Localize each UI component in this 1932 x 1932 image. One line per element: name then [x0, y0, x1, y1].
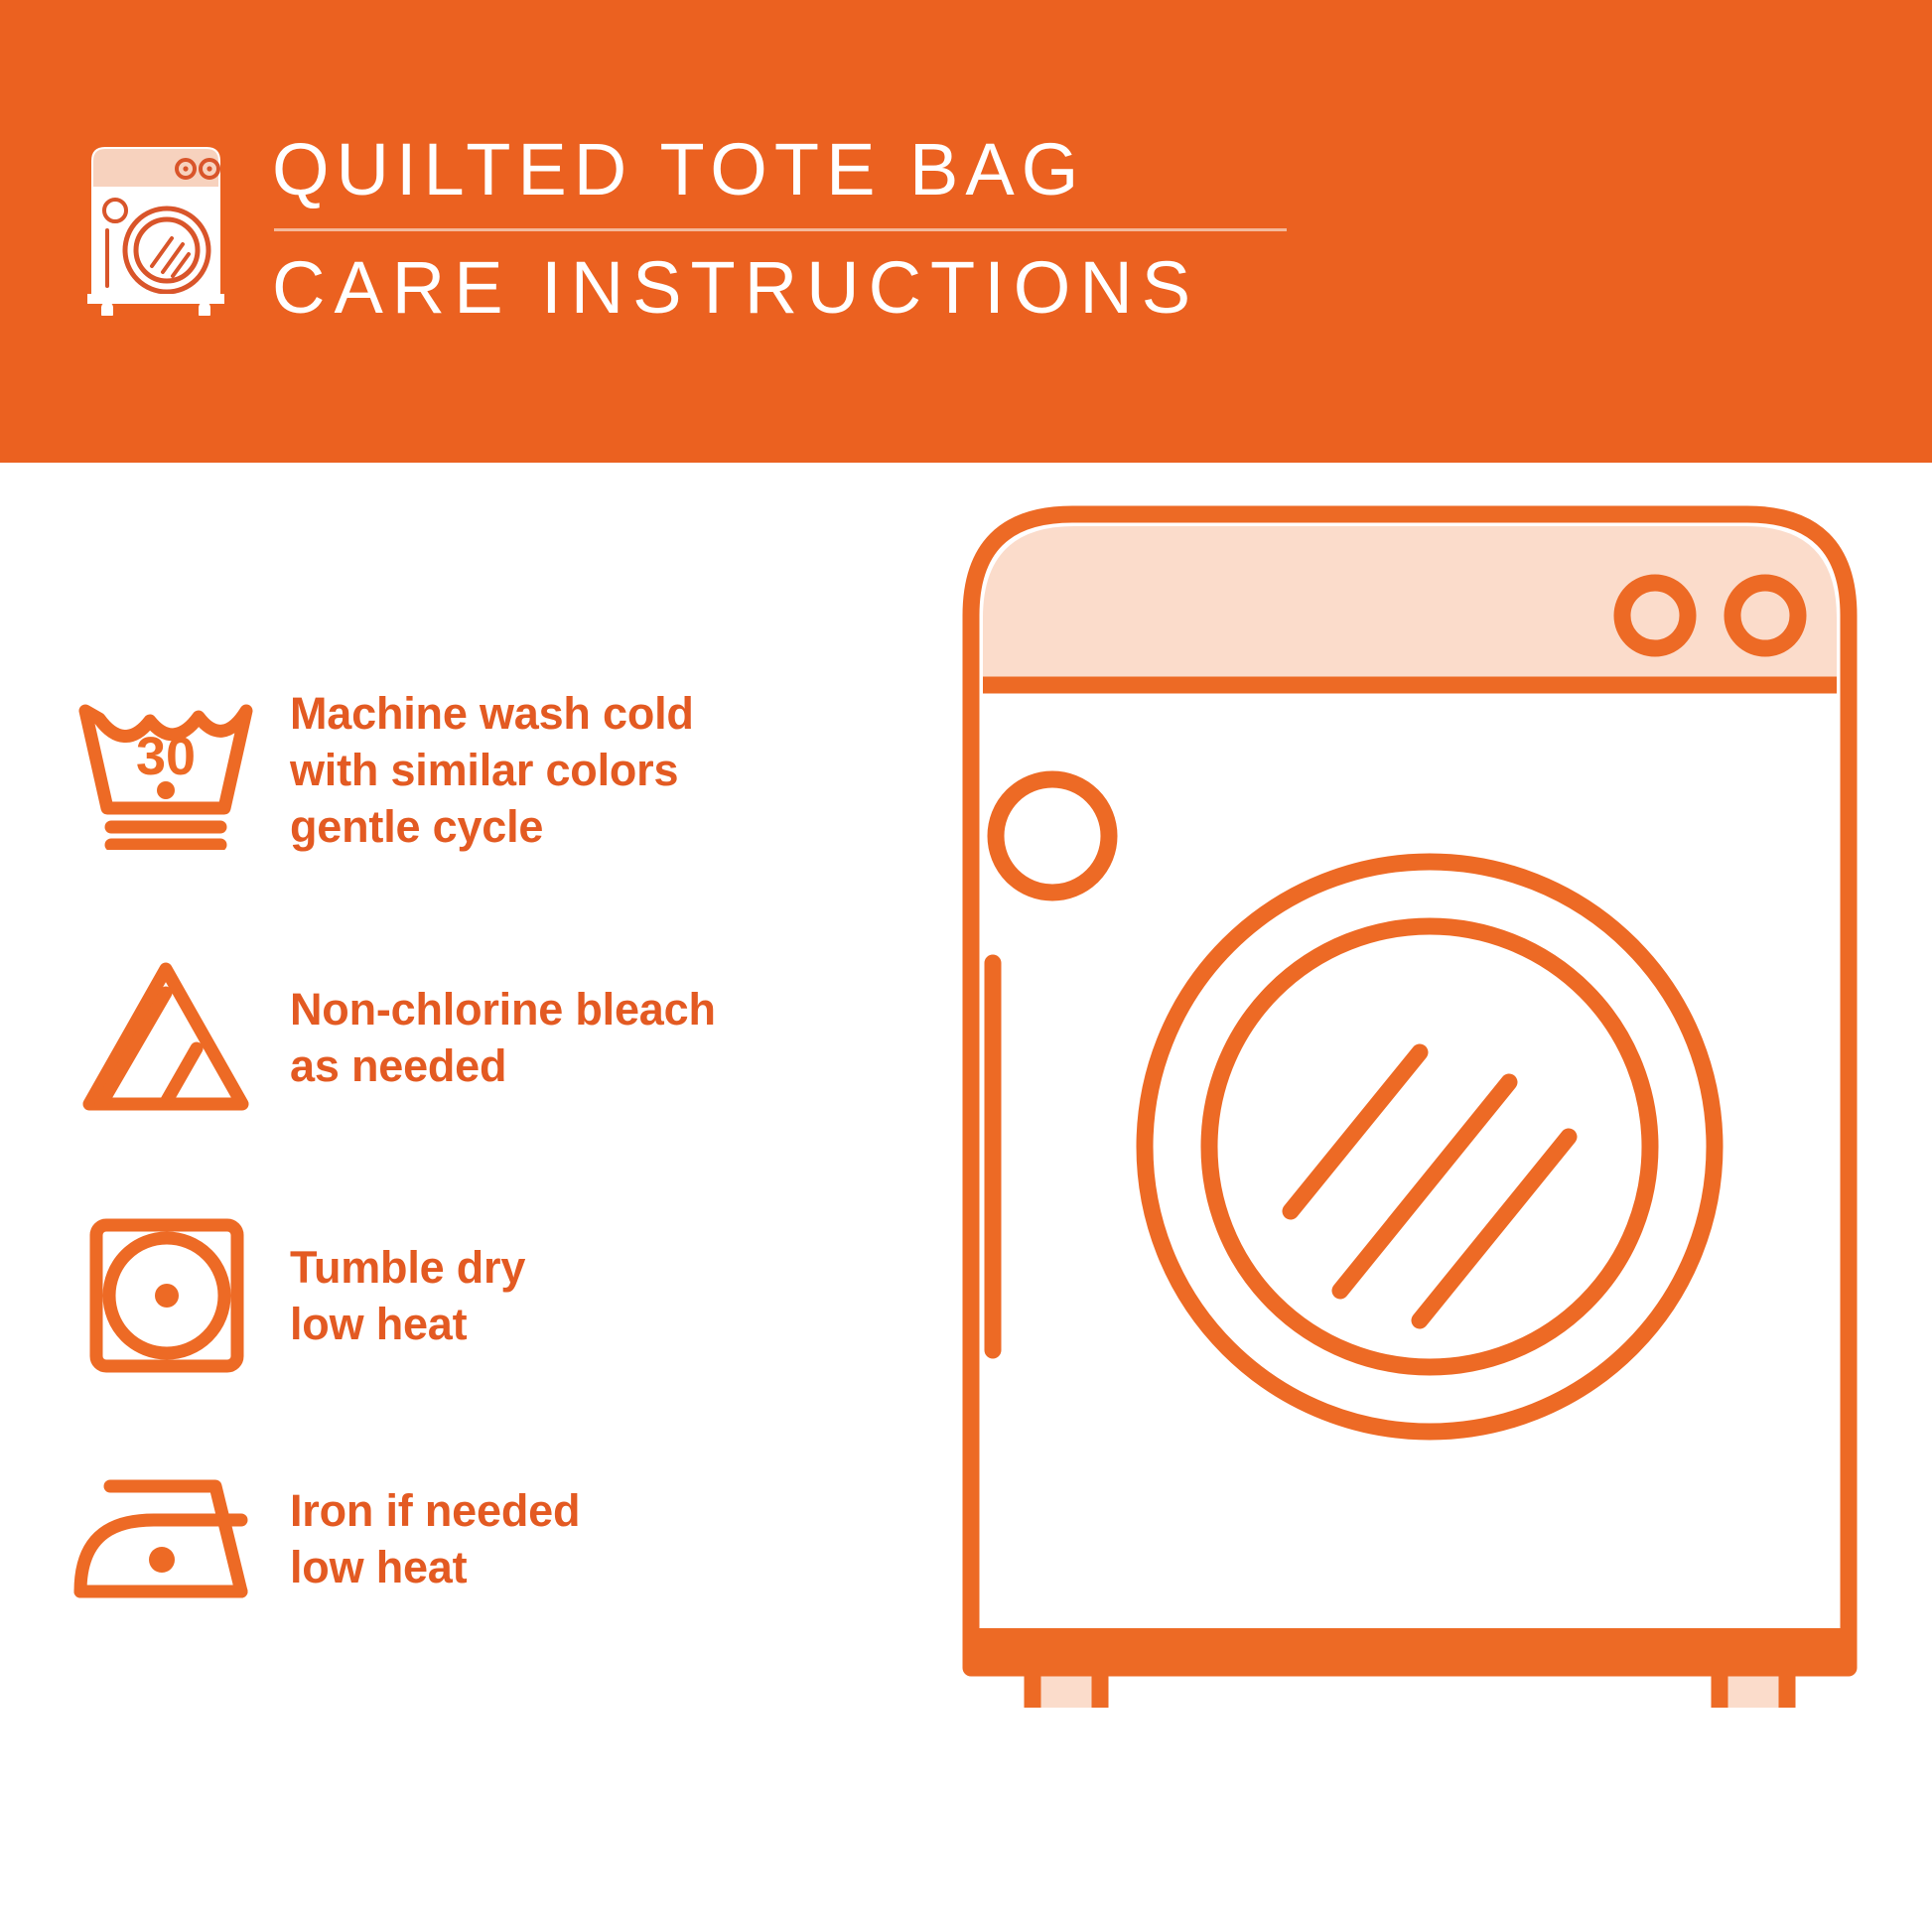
- care-text-wash: Machine wash cold with similar colors ge…: [290, 685, 694, 855]
- care-row-tumble-dry: Tumble dry low heat: [62, 1211, 525, 1380]
- care-text-bleach: Non-chlorine bleach as needed: [290, 981, 716, 1094]
- non-chlorine-bleach-triangle-icon: [71, 953, 260, 1122]
- care-row-bleach: Non-chlorine bleach as needed: [62, 953, 716, 1122]
- title-divider: [274, 228, 1287, 231]
- care-text-line: with similar colors: [290, 742, 694, 798]
- care-text-tumble-dry: Tumble dry low heat: [290, 1239, 525, 1352]
- bleach-symbol: [62, 953, 270, 1122]
- care-text-line: low heat: [290, 1296, 525, 1352]
- wash-tub-30-gentle-icon: 30: [71, 691, 260, 850]
- iron-low-heat-icon: [67, 1464, 265, 1613]
- header-titles: QUILTED TOTE BAG CARE INSTRUCTIONS: [272, 127, 1287, 325]
- care-text-line: low heat: [290, 1539, 580, 1595]
- care-row-wash: 30 Machine wash cold with similar colors…: [62, 685, 694, 855]
- page-subtitle: CARE INSTRUCTIONS: [272, 251, 1287, 325]
- care-text-line: Non-chlorine bleach: [290, 981, 716, 1037]
- care-text-iron: Iron if needed low heat: [290, 1482, 580, 1595]
- tumble-dry-symbol: [62, 1211, 270, 1380]
- care-text-line: Tumble dry: [290, 1239, 525, 1296]
- tumble-dry-low-heat-icon: [76, 1211, 255, 1380]
- wash-temp-value: 30: [136, 727, 196, 786]
- care-row-iron: Iron if needed low heat: [62, 1464, 580, 1613]
- care-text-line: as needed: [290, 1037, 716, 1094]
- washing-machine-icon: [77, 127, 234, 316]
- care-text-line: gentle cycle: [290, 798, 694, 855]
- wash-symbol: 30: [62, 691, 270, 850]
- care-instructions-page: QUILTED TOTE BAG CARE INSTRUCTIONS 30: [0, 0, 1932, 1932]
- care-text-line: Iron if needed: [290, 1482, 580, 1539]
- iron-symbol: [62, 1464, 270, 1613]
- header-content: QUILTED TOTE BAG CARE INSTRUCTIONS: [77, 127, 1287, 325]
- care-text-line: Machine wash cold: [290, 685, 694, 742]
- washing-machine-illustration: [953, 496, 1866, 1708]
- page-title: QUILTED TOTE BAG: [272, 133, 1287, 207]
- header-banner: QUILTED TOTE BAG CARE INSTRUCTIONS: [0, 0, 1932, 463]
